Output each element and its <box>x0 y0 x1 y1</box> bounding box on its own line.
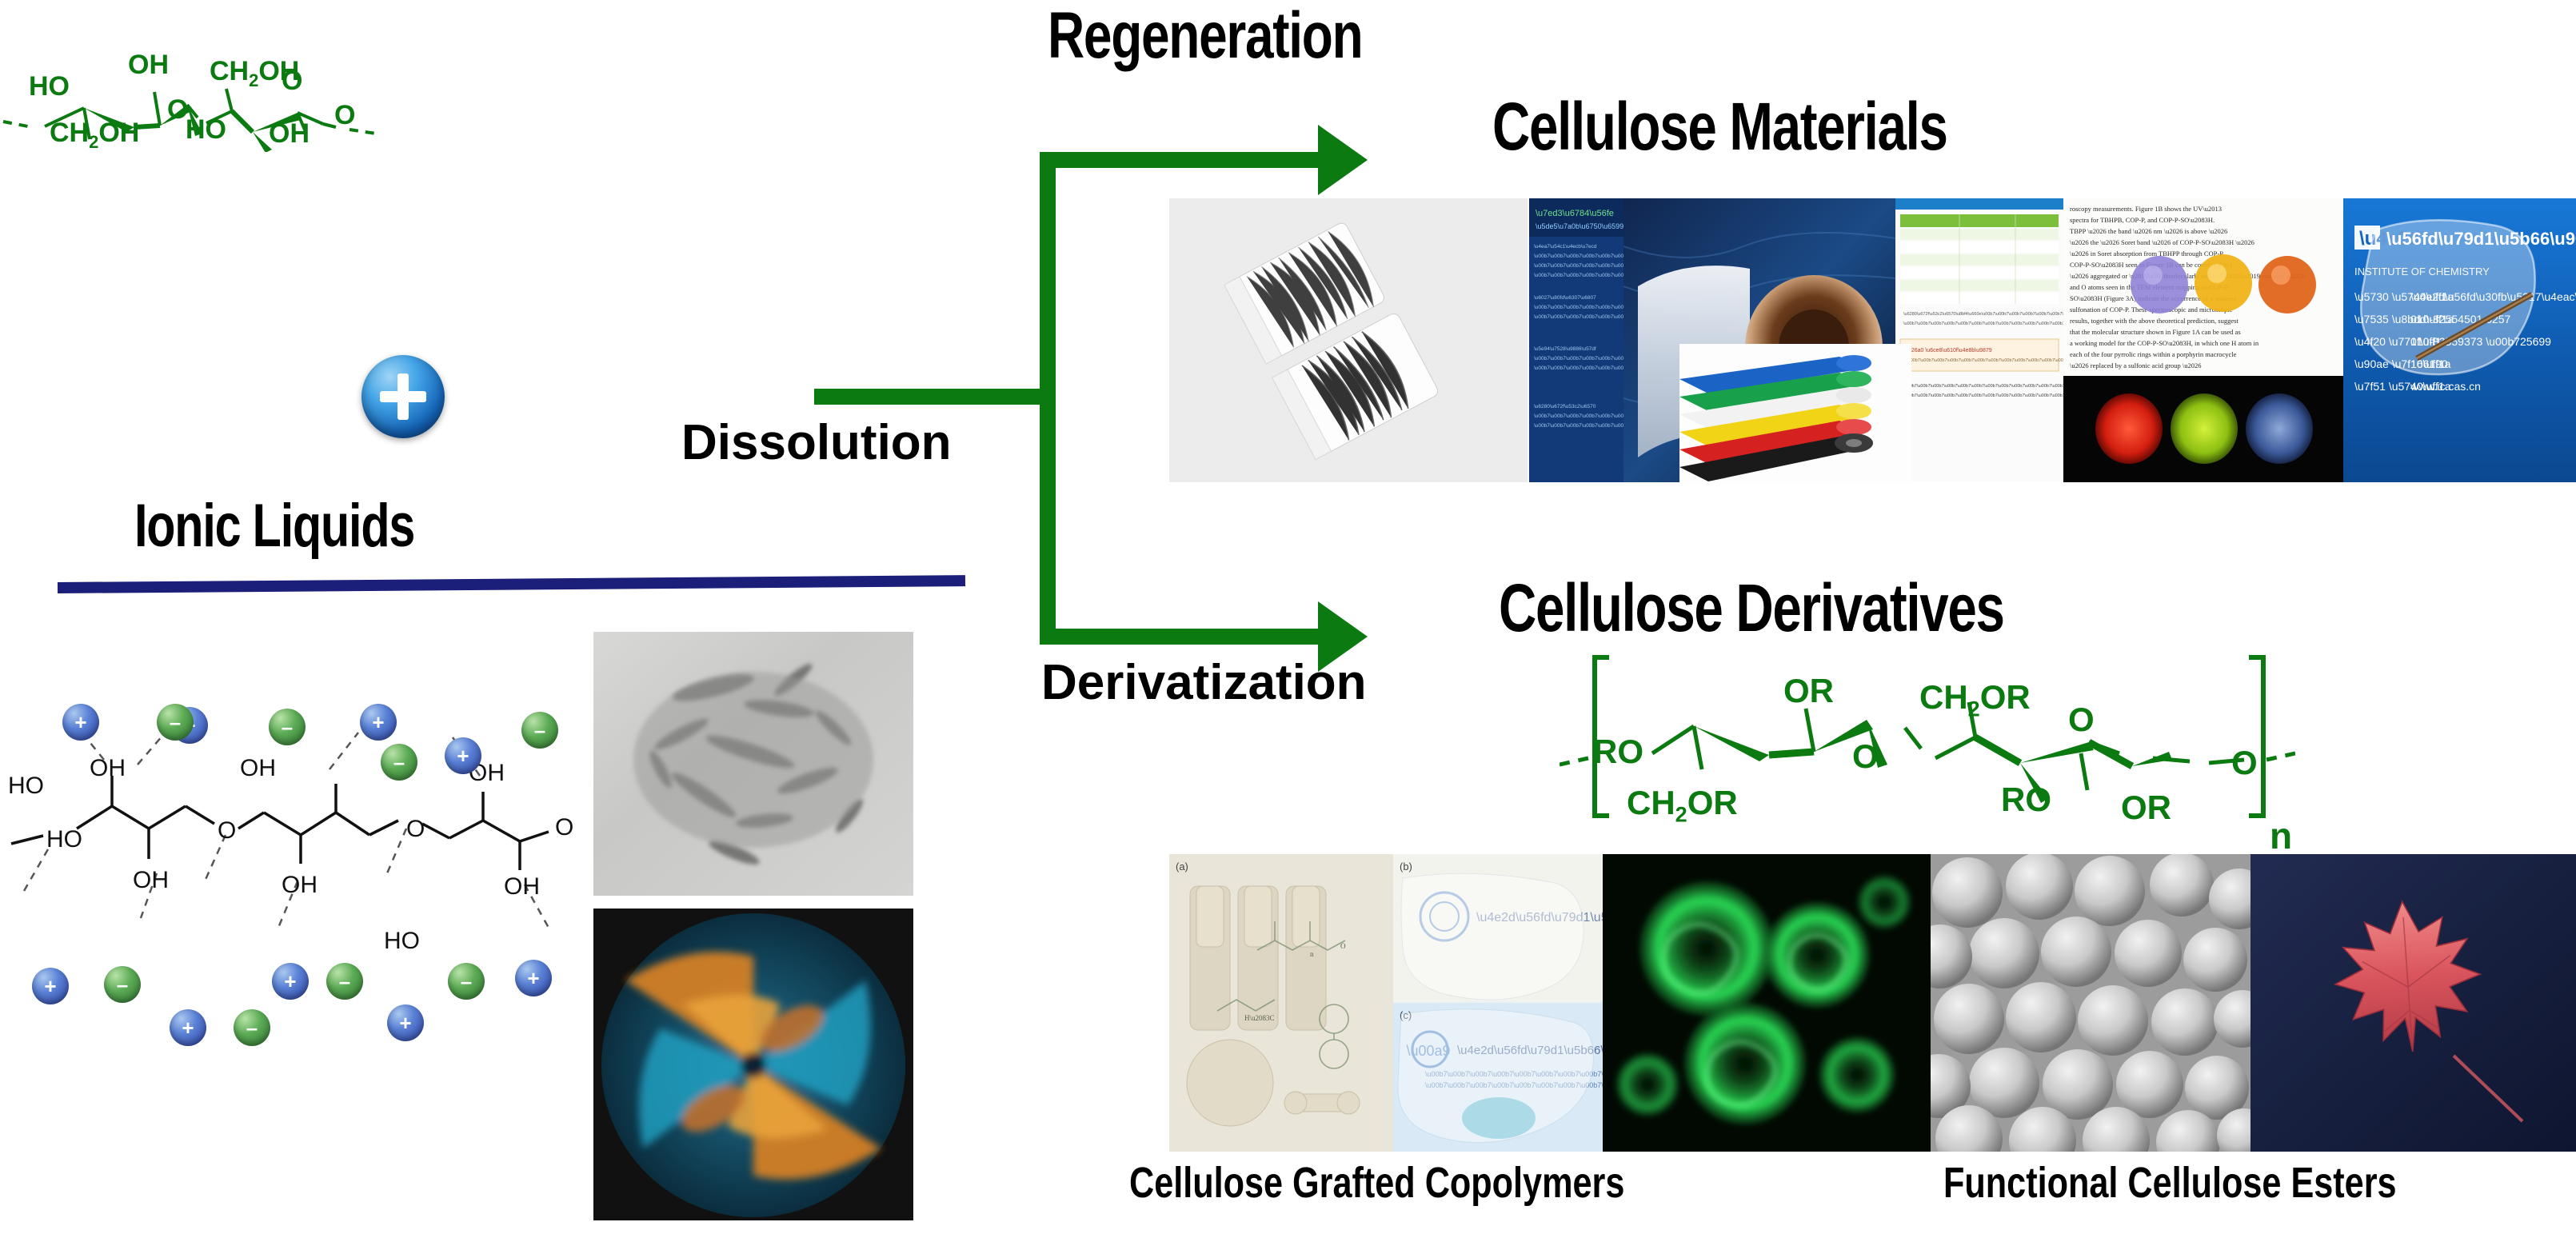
cation-ion-3: + <box>360 704 397 741</box>
svg-text:\u6280\u672f\u53c2\u6570: \u6280\u672f\u53c2\u6570 <box>1534 404 1596 409</box>
cation-ion-1: + <box>62 704 99 741</box>
deriv-label-ch2or-top: CH2OR <box>1919 678 2031 721</box>
red-maple-leaf-photo <box>2251 854 2576 1152</box>
cellulose-label-ho: HO <box>29 71 70 102</box>
tem-nanocrystal-photo <box>593 632 913 896</box>
svg-text:a working model for the COP-P-: a working model for the COP-P-SO\u2083H,… <box>2070 339 2259 347</box>
svg-text:\u5e94\u7528\u9886\u57df: \u5e94\u7528\u9886\u57df <box>1534 346 1596 352</box>
il-label-oh-1: OH <box>90 755 126 782</box>
il-label-o-3: O <box>555 814 573 841</box>
arrow-branch-upper <box>1040 152 1320 168</box>
svg-text:\u6027\u80fd\u6307\u6807: \u6027\u80fd\u6307\u6807 <box>1534 295 1596 301</box>
sem-microspheres-photo <box>1931 854 2251 1152</box>
cation-ion-4: + <box>445 737 481 774</box>
cellulose-label-oh-bottom: OH <box>269 118 310 150</box>
anion-ion-1: – <box>157 704 194 741</box>
svg-text:n: n <box>1310 950 1314 958</box>
deriv-label-ro: RO <box>1593 733 1643 771</box>
svg-text:each of the four pyrrolic ring: each of the four pyrrolic rings within a… <box>2070 350 2237 358</box>
il-label-oh-3: OH <box>240 755 276 782</box>
svg-text:\u00b7\u00b7\u00b7\u00b7\u00b7: \u00b7\u00b7\u00b7\u00b7\u00b7\u00b7\u00… <box>1534 263 1623 269</box>
cation-ion-7: + <box>272 963 309 1000</box>
svg-text:\u00b7\u00b7\u00b7\u00b7\u00b7: \u00b7\u00b7\u00b7\u00b7\u00b7\u00b7\u00… <box>1534 305 1623 310</box>
cellulose-label-o-ring-top: O <box>282 66 302 97</box>
polarized-light-micrograph <box>593 909 913 1220</box>
deriv-label-or-bottom: OR <box>2121 789 2171 827</box>
cellulose-film-sheet-photo: \u4e2d \u56fd\u79d1\u5b66\u9662\u5316\u5… <box>2343 198 2576 482</box>
cellulose-label-ch2oh-bottom: CH2OH <box>50 118 139 153</box>
il-label-oh-4: OH <box>282 872 318 899</box>
svg-text:\u26a0 \u6ce8\u610f\u4e8b\u987: \u26a0 \u6ce8\u610f\u4e8b\u9879 <box>1907 348 1992 353</box>
anion-ion-2: – <box>269 709 306 745</box>
deriv-label-o-link: O <box>1852 737 1879 776</box>
anion-ion-8: – <box>448 963 485 1000</box>
cation-ion-6: + <box>170 1009 206 1046</box>
il-label-o-2: O <box>406 816 425 843</box>
dissolution-heading: Dissolution <box>681 414 952 471</box>
svg-text:\u00b7\u00b7\u00b7\u00b7\u00b7: \u00b7\u00b7\u00b7\u00b7\u00b7\u00b7\u00… <box>1903 384 2063 389</box>
regeneration-heading: Regeneration <box>1048 0 1362 74</box>
svg-text:TBPP \u2026 the band \u2026 nm: TBPP \u2026 the band \u2026 nm \u2026 is… <box>2070 227 2227 235</box>
il-label-ho-1: HO <box>46 826 82 853</box>
ionic-liquids-underline <box>58 575 965 593</box>
svg-text:(a): (a) <box>1176 861 1188 873</box>
anion-ion-7: – <box>326 963 363 1000</box>
cation-ion-9: + <box>515 960 552 996</box>
paper-with-dye-vials-photo: roscopy measurements. Figure 1B shows th… <box>2063 198 2343 398</box>
cation-ion-8: + <box>387 1004 424 1041</box>
deriv-label-ch2or-bottom: CH2OR <box>1627 784 1738 827</box>
deriv-label-ro-2: RO <box>2001 781 2051 819</box>
svg-text:H\u2083C: H\u2083C <box>1244 1014 1275 1022</box>
ionic-liquids-heading: Ionic Liquids <box>134 491 414 561</box>
anion-ion-4: – <box>521 712 558 749</box>
il-label-o-1: O <box>218 817 236 845</box>
svg-text:\u00b7\u00b7\u00b7\u00b7\u00b7: \u00b7\u00b7\u00b7\u00b7\u00b7\u00b7\u00… <box>1534 413 1623 419</box>
svg-text:\u4ea7\u54c1\u4ecb\u7ecd: \u4ea7\u54c1\u4ecb\u7ecd <box>1534 244 1597 250</box>
cellulose-label-oh-top: OH <box>128 50 169 81</box>
transparent-films-photo: (b) \u4e2d\u56fd\u79d1\u5b66\u9662\u5316… <box>1393 854 1603 1152</box>
svg-text:\u00b7\u00b7\u00b7\u00b7\u00b7: \u00b7\u00b7\u00b7\u00b7\u00b7\u00b7\u00… <box>1534 365 1623 371</box>
svg-text:www.ic.cas.cn: www.ic.cas.cn <box>2410 380 2481 393</box>
deriv-label-n: n <box>2270 814 2292 857</box>
svg-text:\u00b7\u00b7\u00b7\u00b7\u00b7: \u00b7\u00b7\u00b7\u00b7\u00b7\u00b7\u00… <box>1534 356 1623 361</box>
arrow-head-upper <box>1318 125 1368 195</box>
cellulose-label-o-terminal: O <box>334 100 355 131</box>
svg-text:\u00b7\u00b7\u00b7\u00b7\u00b7: \u00b7\u00b7\u00b7\u00b7\u00b7\u00b7\u00… <box>1534 273 1623 278</box>
molded-cellulose-parts-photo: (a) nH\u2083CO <box>1169 854 1393 1152</box>
anion-glyph: – <box>170 710 181 735</box>
il-label-ho-2: HO <box>8 773 44 800</box>
caption-functional-esters: Functional Cellulose Esters <box>1943 1158 2397 1208</box>
anion-ion-3: – <box>381 744 417 781</box>
arrow-trunk-vertical <box>1040 152 1056 645</box>
anion-ion-6: – <box>234 1009 270 1046</box>
svg-text:spectra for TBHPB, COP-P, and: spectra for TBHPB, COP-P, and COP-P-SO\u… <box>2070 216 2215 224</box>
cation-ion-5: + <box>32 968 69 1004</box>
il-label-oh-2: OH <box>133 867 169 894</box>
deriv-label-o-ring: O <box>2068 701 2095 739</box>
spec-sheet-green-photo: \u6280\u672f\u53c2\u6570\u8bf4\u660e\u00… <box>1895 198 2063 482</box>
il-label-ho-3: HO <box>384 928 420 955</box>
product-brochure-blue-photo: \u7ed3\u6784\u56fe \u5de5\u7a0b\u6750\u6… <box>1529 198 1623 482</box>
colored-tape-rolls-photo <box>1679 344 1911 482</box>
svg-text:\u00b7\u00b7\u00b7\u00b7\u00b7: \u00b7\u00b7\u00b7\u00b7\u00b7\u00b7\u00… <box>1903 321 2063 326</box>
svg-text:results, together with the abo: results, together with the above theoret… <box>2070 317 2239 325</box>
deriv-label-or-top: OR <box>1783 672 1834 710</box>
plus-icon <box>361 355 445 438</box>
caption-grafted-copolymers: Cellulose Grafted Copolymers <box>1129 1158 1624 1208</box>
svg-text:\u00b7\u00b7\u00b7\u00b7\u00b7: \u00b7\u00b7\u00b7\u00b7\u00b7\u00b7\u00… <box>1534 314 1623 320</box>
derivatization-heading: Derivatization <box>1041 654 1367 711</box>
fluorescent-microscopy-photo <box>1603 854 1931 1152</box>
svg-text:\u7ed3\u6784\u56fe: \u7ed3\u6784\u56fe <box>1536 209 1614 218</box>
svg-text:\u00b7\u00b7\u00b7\u00b7\u00b7: \u00b7\u00b7\u00b7\u00b7\u00b7\u00b7\u00… <box>1534 423 1623 429</box>
svg-text:\u2026 in Soret absorption fro: \u2026 in Soret absorption from TBHPP th… <box>2070 250 2223 258</box>
il-label-oh-6: OH <box>504 873 540 901</box>
svg-text:roscopy measurements. Figure 1: roscopy measurements. Figure 1B shows th… <box>2070 205 2222 213</box>
cation-glyph: + <box>74 710 86 735</box>
deriv-label-o-terminal: O <box>2231 744 2258 782</box>
svg-text:(b): (b) <box>1400 861 1412 873</box>
cellulose-label-ho-2: HO <box>186 114 226 146</box>
svg-text:O: O <box>1340 942 1346 950</box>
svg-text:\u2026 replaced by a sulfonic: \u2026 replaced by a sulfonic acid group… <box>2070 361 2202 369</box>
svg-text:\u00b7\u00b7\u00b7\u00b7\u00b7: \u00b7\u00b7\u00b7\u00b7\u00b7\u00b7\u00… <box>1907 358 2063 363</box>
cellulose-materials-heading: Cellulose Materials <box>1492 88 1947 166</box>
svg-text:that the molecular structure s: that the molecular structure shown in Fi… <box>2070 328 2241 336</box>
svg-text:\u2026 the \u2026 Soret band \: \u2026 the \u2026 Soret band \u2026 of C… <box>2070 238 2254 246</box>
svg-text:\u00b7\u00b7\u00b7\u00b7\u00b7: \u00b7\u00b7\u00b7\u00b7\u00b7\u00b7\u00… <box>1534 254 1623 259</box>
arrow-stem-horizontal <box>814 389 1054 405</box>
glowing-vials-photo <box>2063 376 2343 482</box>
svg-text:\u00b7\u00b7\u00b7\u00b7\u00b7: \u00b7\u00b7\u00b7\u00b7\u00b7\u00b7\u00… <box>1903 393 2063 398</box>
arrow-branch-lower <box>1040 629 1320 645</box>
cellulose-fiber-spool-photo <box>1169 198 1528 482</box>
svg-text:\u5de5\u7a0b\u6750\u6599: \u5de5\u7a0b\u6750\u6599 <box>1536 222 1623 230</box>
svg-text:\u6280\u672f\u53c2\u6570\u8bf4: \u6280\u672f\u53c2\u6570\u8bf4\u660e\u00… <box>1903 312 2063 317</box>
anion-ion-5: – <box>104 966 141 1003</box>
